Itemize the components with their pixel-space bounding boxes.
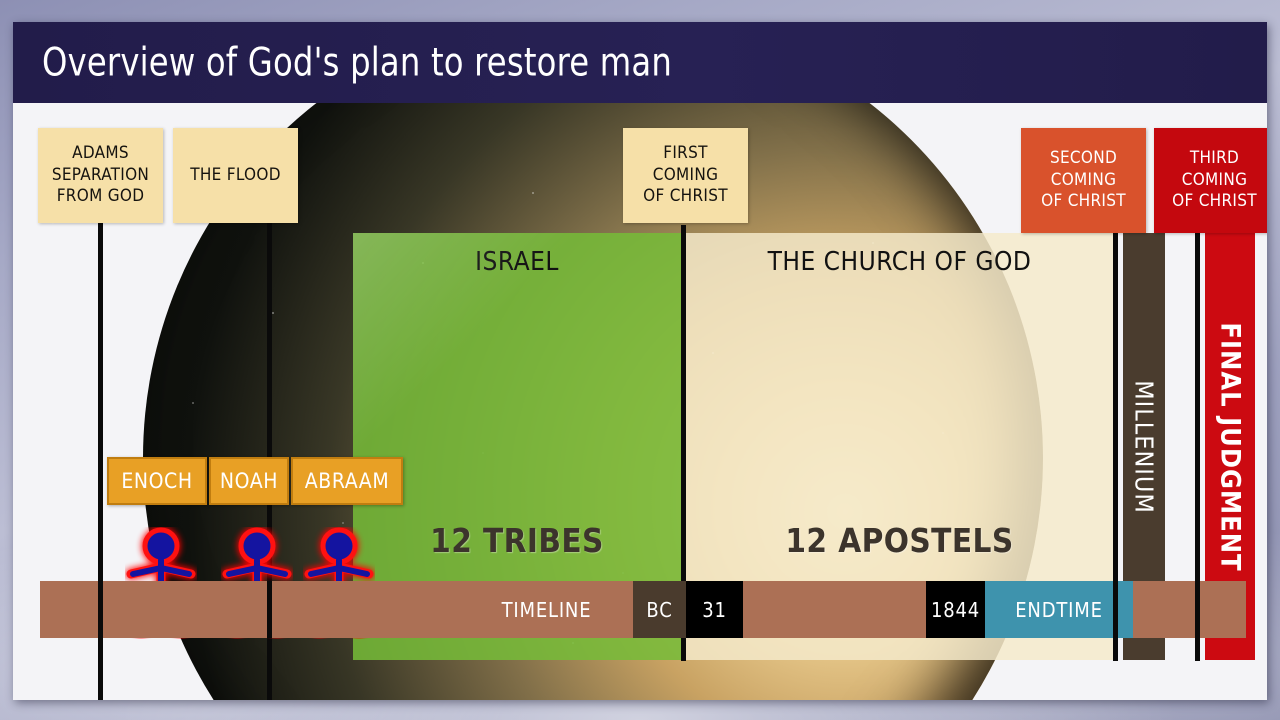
callout-line: OF CHRIST — [643, 186, 728, 208]
callout-third-coming[interactable]: THIRDCOMINGOF CHRIST — [1154, 128, 1267, 233]
name-tag-noah[interactable]: NOAH — [209, 457, 289, 505]
callout-line: ADAMS — [72, 143, 129, 165]
timeline-bar[interactable]: TIMELINEBC311844ENDTIME — [40, 581, 1246, 638]
era-label-millenium: MILLENIUM — [1130, 380, 1159, 514]
callout-the-flood[interactable]: THE FLOOD — [173, 128, 298, 223]
era-label-12-apostels: 12 APOSTELS — [686, 521, 1113, 560]
name-tag-label: ENOCH — [121, 469, 192, 493]
era-heading-israel: ISRAEL — [353, 247, 681, 277]
name-tag-label: ABRAAM — [305, 469, 389, 493]
callout-line: SECOND — [1050, 148, 1117, 170]
timeline-segment-tl-bc[interactable]: BC — [633, 581, 686, 638]
title-bar: Overview of God's plan to restore man — [13, 22, 1267, 103]
timeline-tick-tick-third — [1195, 581, 1200, 638]
callout-line: SEPARATION — [52, 165, 149, 187]
callout-line: COMING — [1182, 170, 1248, 192]
name-tag-label: NOAH — [220, 469, 278, 493]
page-title: Overview of God's plan to restore man — [42, 40, 672, 85]
name-tag-abraam[interactable]: ABRAAM — [291, 457, 403, 505]
era-label-final-judgment: FINAL JUDGMENT — [1215, 322, 1246, 571]
timeline-segment-tl-timeline-label[interactable]: TIMELINE — [460, 581, 633, 638]
slide-root: Overview of God's plan to restore man IS… — [0, 0, 1280, 720]
era-heading-church: THE CHURCH OF GOD — [686, 247, 1113, 277]
callout-line: OF CHRIST — [1041, 191, 1126, 213]
name-tag-enoch[interactable]: ENOCH — [107, 457, 207, 505]
timeline-segment-tl-31[interactable]: 31 — [686, 581, 743, 638]
callout-line: COMING — [1051, 170, 1117, 192]
callout-second-coming[interactable]: SECONDCOMINGOF CHRIST — [1021, 128, 1146, 233]
callout-line: FROM GOD — [57, 186, 145, 208]
timeline-tick-tick-second — [1113, 581, 1118, 638]
callout-line: FIRST — [663, 143, 707, 165]
timeline-segment-tl-endtime[interactable]: ENDTIME — [985, 581, 1133, 638]
callout-line: THIRD — [1190, 148, 1239, 170]
callout-line: THE FLOOD — [190, 165, 281, 187]
timeline-segment-tl-1844[interactable]: 1844 — [926, 581, 985, 638]
timeline-segment-tl-gap[interactable] — [743, 581, 926, 638]
callout-adams-separation[interactable]: ADAMSSEPARATIONFROM GOD — [38, 128, 163, 223]
timeline-tick-tick-flood — [267, 581, 272, 638]
timeline-segment-tl-post[interactable] — [1133, 581, 1246, 638]
slide-panel: Overview of God's plan to restore man IS… — [13, 22, 1267, 700]
callout-line: OF CHRIST — [1172, 191, 1257, 213]
timeline-tick-tick-adams — [98, 581, 103, 638]
callout-line: COMING — [653, 165, 719, 187]
callout-first-coming[interactable]: FIRSTCOMINGOF CHRIST — [623, 128, 748, 223]
era-label-12-tribes: 12 TRIBES — [353, 521, 681, 560]
